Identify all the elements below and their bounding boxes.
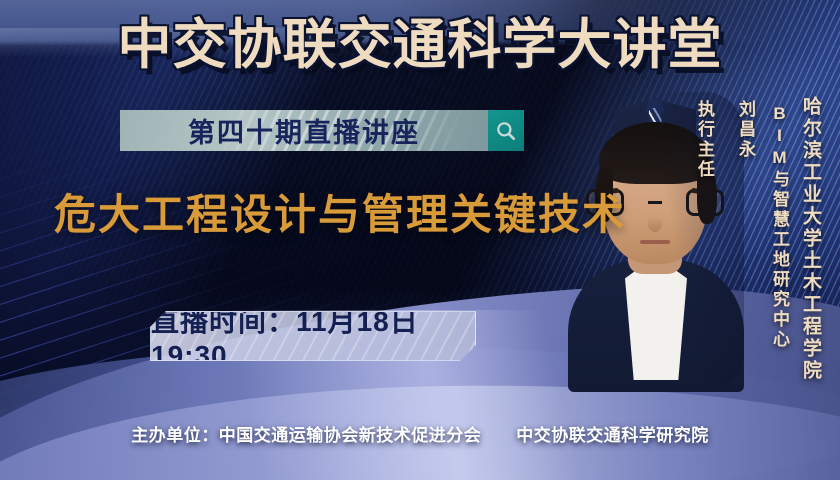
page-title: 中交协联交通科学大讲堂	[0, 14, 840, 76]
episode-label: 第四十期直播讲座	[188, 111, 420, 150]
episode-banner: 第四十期直播讲座	[120, 110, 524, 151]
broadcast-time-badge: 直播时间：11月18日19:30	[150, 311, 476, 361]
lecture-headline: 危大工程设计与管理关键技术	[54, 190, 626, 240]
episode-banner-body: 第四十期直播讲座	[120, 110, 488, 151]
speaker-identity: 刘昌永 执行主任	[692, 100, 758, 290]
portrait-nose	[648, 216, 662, 232]
speaker-organization: 哈尔滨工业大学土木工程学院	[797, 96, 824, 382]
live-lecture-poster: 中交协联交通科学大讲堂 第四十期直播讲座 危大工程设计与管理关键技术 直播时间：…	[0, 0, 840, 480]
speaker-role: 执行主任	[692, 100, 717, 290]
portrait-mouth	[640, 240, 670, 244]
speaker-center: BIM与智慧工地研究中心	[767, 104, 792, 350]
search-icon	[495, 120, 517, 142]
portrait-glasses-bridge	[648, 201, 662, 204]
search-button[interactable]	[488, 110, 524, 151]
organizer-footer: 主办单位：中国交通运输协会新技术促进分会 中交协联交通科学研究院	[0, 421, 840, 446]
speaker-name: 刘昌永	[733, 100, 758, 290]
broadcast-time-text: 直播时间：11月18日19:30	[151, 311, 475, 361]
